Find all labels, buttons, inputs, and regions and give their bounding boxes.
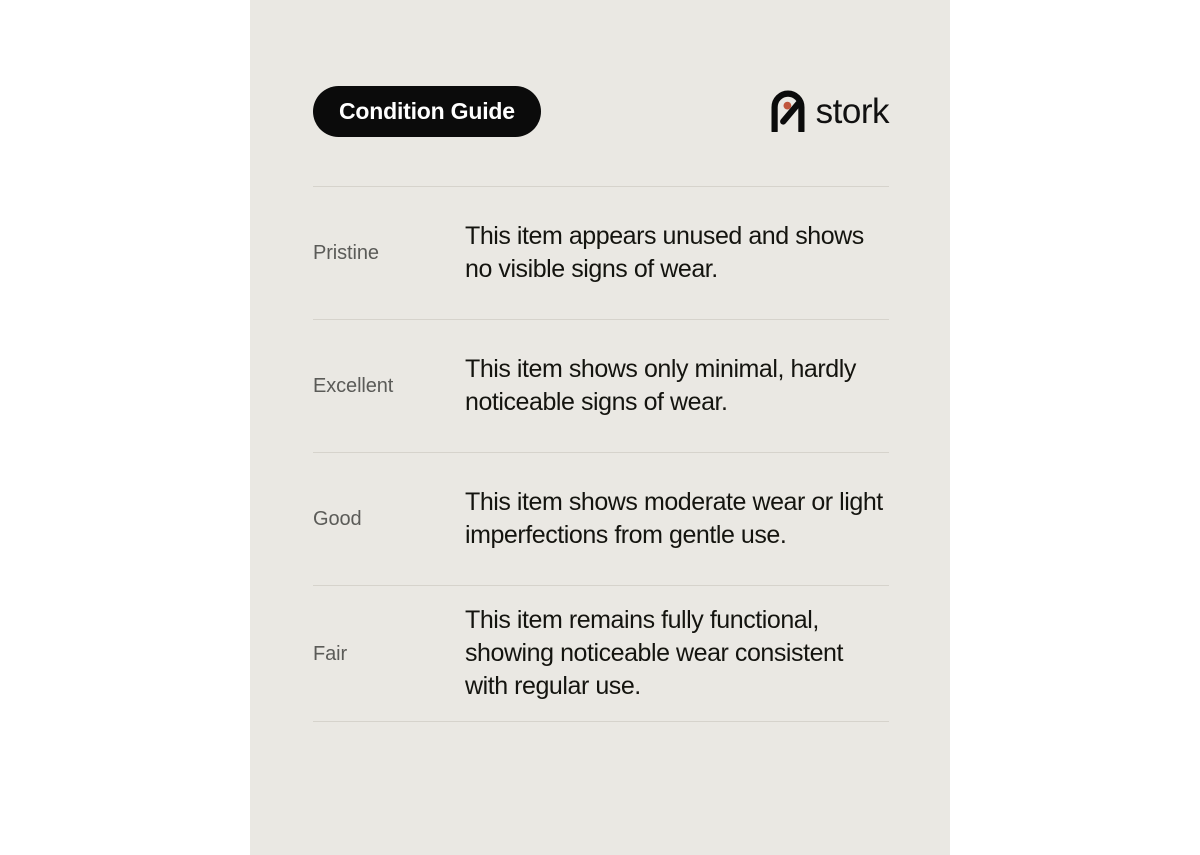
condition-description: This item appears unused and shows no vi…	[465, 220, 889, 286]
table-row: Good This item shows moderate wear or li…	[313, 453, 889, 585]
brand-logo[interactable]: stork	[770, 90, 889, 132]
condition-description: This item shows moderate wear or light i…	[465, 486, 889, 552]
stork-arch-logo-icon	[770, 90, 806, 132]
condition-guide-pill-label: Condition Guide	[339, 100, 515, 123]
condition-label: Good	[313, 507, 465, 531]
condition-label: Pristine	[313, 241, 465, 265]
condition-label: Excellent	[313, 374, 465, 398]
condition-description: This item remains fully functional, show…	[465, 604, 889, 703]
card-content: Condition Guide stork	[313, 0, 889, 855]
card-header: Condition Guide stork	[313, 85, 889, 137]
condition-guide-pill[interactable]: Condition Guide	[313, 86, 541, 137]
table-row: Pristine This item appears unused and sh…	[313, 187, 889, 319]
table-row: Excellent This item shows only minimal, …	[313, 320, 889, 452]
table-row: Fair This item remains fully functional,…	[313, 586, 889, 721]
page-root: Condition Guide stork	[0, 0, 1200, 855]
condition-label: Fair	[313, 642, 465, 666]
table-divider	[313, 721, 889, 722]
brand-name: stork	[816, 94, 889, 129]
condition-guide-card: Condition Guide stork	[250, 0, 950, 855]
condition-table: Pristine This item appears unused and sh…	[313, 186, 889, 722]
condition-description: This item shows only minimal, hardly not…	[465, 353, 889, 419]
